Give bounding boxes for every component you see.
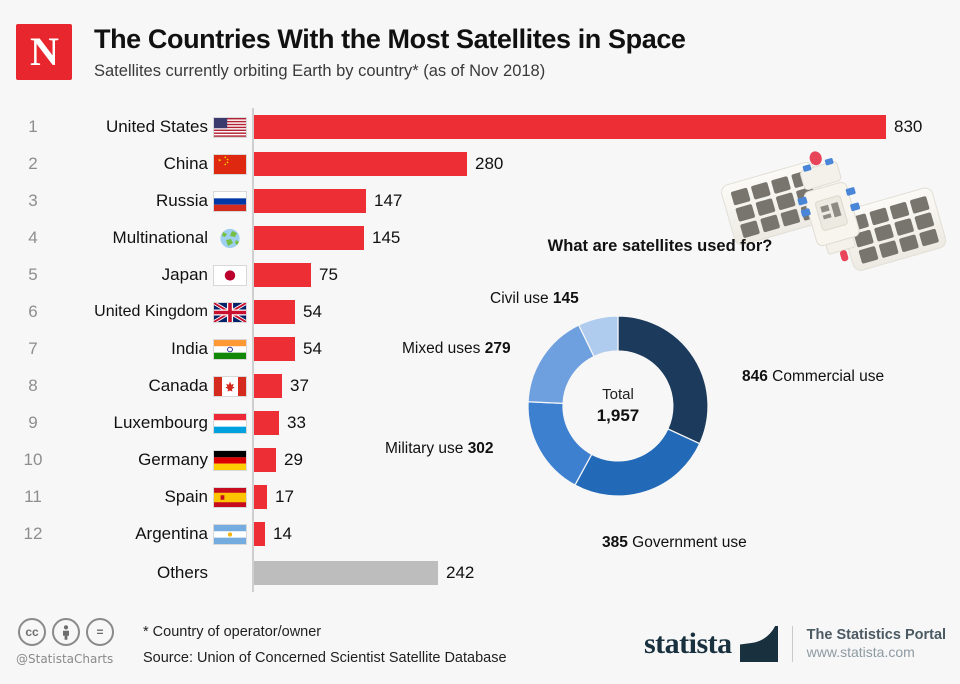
country-label: Others xyxy=(52,554,208,591)
rank-label: 4 xyxy=(18,219,48,256)
cc-icon: cc xyxy=(18,618,46,646)
rank-label: 9 xyxy=(18,404,48,441)
flag-ar-icon xyxy=(213,524,247,545)
rank-label: 6 xyxy=(18,293,48,330)
donut-label-government: 385 Government use xyxy=(602,534,747,552)
donut-chart: What are satellites used for? Total xyxy=(380,228,960,588)
bar xyxy=(254,115,886,139)
rank-label: 5 xyxy=(18,256,48,293)
donut-label-mixed-value: 279 xyxy=(485,340,511,357)
donut-label-commercial-name: Commercial use xyxy=(768,368,884,385)
bar xyxy=(254,411,279,435)
statista-tagline: The Statistics Portal xyxy=(807,627,946,644)
bar-value: 37 xyxy=(290,374,309,398)
country-label: Canada xyxy=(52,367,208,404)
bar xyxy=(254,189,366,213)
flag-ru-icon xyxy=(213,191,247,212)
infographic-root: N The Countries With the Most Satellites… xyxy=(0,0,960,684)
donut-label-government-name: Government use xyxy=(628,534,747,551)
donut-label-commercial-value: 846 xyxy=(742,368,768,385)
donut-segment-government xyxy=(575,429,700,496)
bar-value: 17 xyxy=(275,485,294,509)
bar-value: 33 xyxy=(287,411,306,435)
donut-label-commercial: 846 Commercial use xyxy=(742,368,884,386)
flag-gb-icon xyxy=(213,302,247,323)
rank-label: 11 xyxy=(18,478,48,515)
globe-icon xyxy=(213,228,247,249)
donut-segment-commercial xyxy=(618,316,708,444)
country-label: Argentina xyxy=(52,515,208,552)
donut-label-military: Military use 302 xyxy=(385,440,494,458)
cc-nd-icon: = xyxy=(86,618,114,646)
country-label: United States xyxy=(52,108,208,145)
rank-label: 10 xyxy=(18,441,48,478)
country-label: Luxembourg xyxy=(52,404,208,441)
donut-label-military-value: 302 xyxy=(468,440,494,457)
flag-cn-icon xyxy=(213,154,247,175)
header: N The Countries With the Most Satellites… xyxy=(0,0,960,96)
bar xyxy=(254,263,311,287)
flag-us-icon xyxy=(213,117,247,138)
bar-value: 29 xyxy=(284,448,303,472)
country-label: United Kingdom xyxy=(52,293,208,330)
bar xyxy=(254,152,467,176)
rank-label: 7 xyxy=(18,330,48,367)
statista-branding[interactable]: statista The Statistics Portal www.stati… xyxy=(644,622,946,666)
country-label: Russia xyxy=(52,182,208,219)
bar-value: 14 xyxy=(273,522,292,546)
donut-label-civil-value: 145 xyxy=(553,290,579,307)
flag-jp-icon xyxy=(213,265,247,286)
table-row: 3 Russia 147 xyxy=(0,182,470,219)
country-label: Spain xyxy=(52,478,208,515)
flag-in-icon xyxy=(213,339,247,360)
donut-label-civil: Civil use 145 xyxy=(490,290,579,308)
bar-value: 54 xyxy=(303,337,322,361)
country-label: China xyxy=(52,145,208,182)
donut-label-civil-name: Civil use xyxy=(490,290,553,307)
statista-url: www.statista.com xyxy=(807,644,946,661)
bar xyxy=(254,448,276,472)
donut-label-mixed-name: Mixed uses xyxy=(402,340,485,357)
footnote-source: Source: Union of Concerned Scientist Sat… xyxy=(143,650,507,666)
footnote-asterisk: * Country of operator/owner xyxy=(143,624,321,640)
bar xyxy=(254,300,295,324)
newsweek-logo: N xyxy=(16,24,72,80)
flag-ca-icon xyxy=(213,376,247,397)
flag-es-icon xyxy=(213,487,247,508)
rank-label: 1 xyxy=(18,108,48,145)
donut-title: What are satellites used for? xyxy=(530,236,790,257)
page-title: The Countries With the Most Satellites i… xyxy=(94,24,686,55)
newsweek-logo-letter: N xyxy=(30,32,58,72)
donut-graphic xyxy=(518,306,718,506)
bar-value: 75 xyxy=(319,263,338,287)
bar-value: 54 xyxy=(303,300,322,324)
rank-label: 12 xyxy=(18,515,48,552)
bar-value: 830 xyxy=(894,115,922,139)
donut-segment-military xyxy=(528,402,592,485)
bar xyxy=(254,337,295,361)
bar xyxy=(254,485,267,509)
country-label: Germany xyxy=(52,441,208,478)
bar xyxy=(254,522,265,546)
statista-wordmark: statista xyxy=(644,627,732,661)
divider xyxy=(792,626,793,662)
creative-commons-badges: cc = xyxy=(18,618,138,652)
bar xyxy=(254,226,364,250)
table-row: 2 China 280 xyxy=(0,145,470,182)
rank-label: 3 xyxy=(18,182,48,219)
donut-label-government-value: 385 xyxy=(602,534,628,551)
country-label: India xyxy=(52,330,208,367)
cc-by-person-icon xyxy=(52,618,80,646)
bar-value: 147 xyxy=(374,189,402,213)
flag-de-icon xyxy=(213,450,247,471)
table-row: 1 United States 830 xyxy=(0,108,470,145)
donut-label-military-name: Military use xyxy=(385,440,468,457)
statista-logo-mark-icon xyxy=(740,626,778,662)
statista-charts-handle: @StatistaCharts xyxy=(16,652,113,666)
bar xyxy=(254,374,282,398)
rank-label: 2 xyxy=(18,145,48,182)
page-subtitle: Satellites currently orbiting Earth by c… xyxy=(94,62,545,81)
bar-value: 280 xyxy=(475,152,503,176)
country-label: Japan xyxy=(52,256,208,293)
flag-lu-icon xyxy=(213,413,247,434)
donut-label-mixed: Mixed uses 279 xyxy=(402,340,511,358)
country-label: Multinational xyxy=(52,219,208,256)
rank-label: 8 xyxy=(18,367,48,404)
